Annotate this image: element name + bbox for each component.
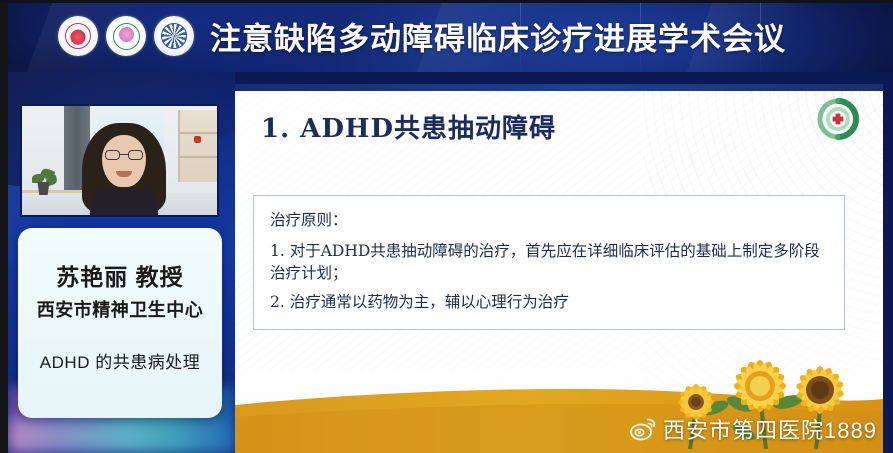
speaker-organization: 西安市精神卫生中心 bbox=[37, 296, 204, 322]
speaker-topic: ADHD 的共患病处理 bbox=[40, 348, 200, 373]
weibo-watermark-text: 西安市第四医院1889 bbox=[663, 413, 877, 445]
panel-aurora-glow-2 bbox=[8, 419, 235, 453]
content-item-2: 2. 治疗通常以药物为主，辅以心理行为治疗 bbox=[270, 291, 828, 313]
screen-top-border bbox=[0, 0, 893, 3]
speaker-info-card: 苏艳丽 教授 西安市精神卫生中心 ADHD 的共患病处理 bbox=[18, 228, 222, 418]
conference-title: 注意缺陷多动障碍临床诊疗进展学术会议 bbox=[210, 14, 786, 59]
hospital-green-swirl-logo-icon bbox=[817, 98, 859, 140]
emblem-blue-geometric-icon bbox=[154, 16, 194, 56]
weibo-watermark: 西安市第四医院1889 bbox=[630, 413, 877, 445]
presentation-slide[interactable]: 1. ADHD共患抽动障碍 治疗原则： 1. 对于ADHD共患抽动障碍的治疗，首… bbox=[235, 84, 883, 453]
speaker-face bbox=[102, 135, 146, 187]
video-bookshelf bbox=[178, 110, 219, 182]
conference-header-banner: 注意缺陷多动障碍临床诊疗进展学术会议 bbox=[0, 0, 893, 72]
speaker-name: 苏艳丽 教授 bbox=[56, 258, 183, 292]
emblem-red-flower-icon bbox=[58, 16, 98, 56]
emblem-green-tulip-icon bbox=[106, 16, 146, 56]
screen-left-border bbox=[0, 0, 8, 453]
speaker-person bbox=[82, 123, 166, 215]
slide-top-accent-bar bbox=[235, 84, 883, 91]
speaker-torso bbox=[90, 189, 158, 215]
broadcast-screen: 注意缺陷多动障碍临床诊疗进展学术会议 bbox=[0, 0, 893, 453]
slide-content-box: 治疗原则： 1. 对于ADHD共患抽动障碍的治疗，首先应在详细临床评估的基础上制… bbox=[253, 195, 845, 330]
weibo-icon bbox=[630, 417, 656, 441]
speaker-video-feed[interactable] bbox=[20, 104, 219, 217]
content-item-1: 1. 对于ADHD共患抽动障碍的治疗，首先应在详细临床评估的基础上制定多阶段治疗… bbox=[270, 240, 828, 284]
content-heading: 治疗原则： bbox=[270, 209, 828, 231]
header-logo-group bbox=[58, 16, 194, 56]
slide-heading: 1. ADHD共患抽动障碍 bbox=[261, 108, 556, 145]
speaker-glasses-icon bbox=[105, 150, 143, 160]
video-shelf-object bbox=[194, 136, 201, 143]
